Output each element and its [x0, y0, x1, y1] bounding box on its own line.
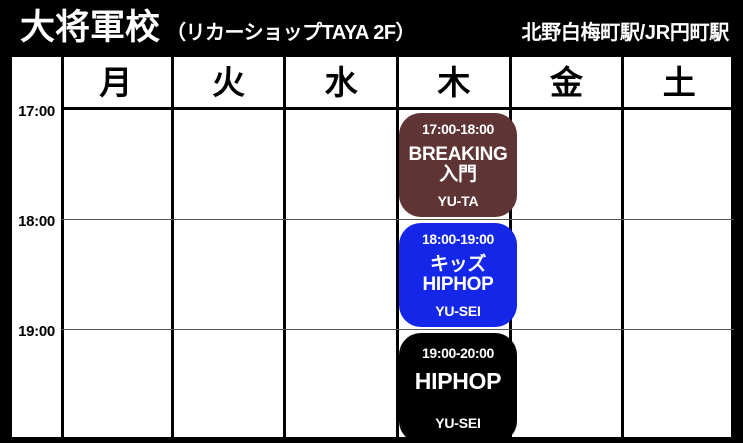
page-subtitle: （リカーショップTAYA 2F） — [166, 13, 415, 53]
grid-cell[interactable] — [512, 330, 625, 437]
grid-cell[interactable] — [624, 330, 734, 437]
class-block-breaking[interactable]: 17:00-18:00 BREAKING 入門 YU-TA — [399, 113, 517, 217]
grid-cell[interactable] — [286, 220, 399, 329]
class-name: キッズ — [430, 255, 486, 275]
page-header: 大将軍校 （リカーショップTAYA 2F） 北野白梅町駅/JR円町駅 — [0, 0, 743, 57]
time-label-17: 17:00 — [12, 103, 61, 120]
page-title: 大将軍校 — [20, 8, 160, 48]
grid-cell[interactable] — [624, 220, 734, 329]
grid-row-17 — [61, 110, 734, 220]
grid-body — [61, 110, 734, 437]
station-info: 北野白梅町駅/JR円町駅 — [521, 16, 729, 45]
time-label-18: 18:00 — [12, 213, 61, 230]
class-name: BREAKING — [409, 145, 508, 165]
class-name-line2: 入門 — [439, 165, 476, 185]
grid-cell[interactable] — [512, 220, 625, 329]
grid-cell[interactable] — [61, 330, 174, 437]
class-block-hiphop[interactable]: 19:00-20:00 HIPHOP YU-SEI — [399, 333, 517, 443]
class-time: 19:00-20:00 — [422, 346, 494, 360]
brand: 大将軍校 （リカーショップTAYA 2F） — [20, 8, 415, 53]
grid-cell[interactable] — [286, 110, 399, 219]
day-grid: 月 火 水 木 金 土 — [61, 57, 734, 437]
grid-row-19 — [61, 330, 734, 437]
class-name: HIPHOP — [415, 369, 501, 393]
day-header-wed: 水 — [286, 57, 399, 107]
grid-cell[interactable] — [61, 220, 174, 329]
class-teacher: YU-SEI — [435, 304, 480, 318]
day-header-mon: 月 — [61, 57, 174, 107]
schedule-page: 大将軍校 （リカーショップTAYA 2F） 北野白梅町駅/JR円町駅 17:00… — [0, 0, 743, 443]
day-header-row: 月 火 水 木 金 土 — [61, 57, 734, 110]
day-header-fri: 金 — [512, 57, 625, 107]
class-time: 18:00-19:00 — [422, 232, 494, 246]
class-name-line2: HIPHOP — [422, 275, 493, 295]
class-time: 17:00-18:00 — [422, 122, 494, 136]
grid-cell[interactable] — [174, 110, 287, 219]
day-header-sat: 土 — [624, 57, 734, 107]
grid-cell[interactable] — [174, 330, 287, 437]
day-header-thu: 木 — [399, 57, 512, 107]
class-block-kids-hiphop[interactable]: 18:00-19:00 キッズ HIPHOP YU-SEI — [399, 223, 517, 327]
grid-cell[interactable] — [624, 110, 734, 219]
time-label-19: 19:00 — [12, 323, 61, 340]
grid-cell[interactable] — [174, 220, 287, 329]
grid-row-18 — [61, 220, 734, 330]
grid-cell[interactable] — [286, 330, 399, 437]
class-teacher: YU-SEI — [435, 416, 480, 430]
day-header-tue: 火 — [174, 57, 287, 107]
schedule-table: 17:00 18:00 19:00 月 火 水 木 金 土 — [9, 57, 734, 440]
class-teacher: YU-TA — [438, 194, 479, 208]
grid-cell[interactable] — [512, 110, 625, 219]
grid-cell[interactable] — [61, 110, 174, 219]
time-axis: 17:00 18:00 19:00 — [12, 57, 61, 437]
